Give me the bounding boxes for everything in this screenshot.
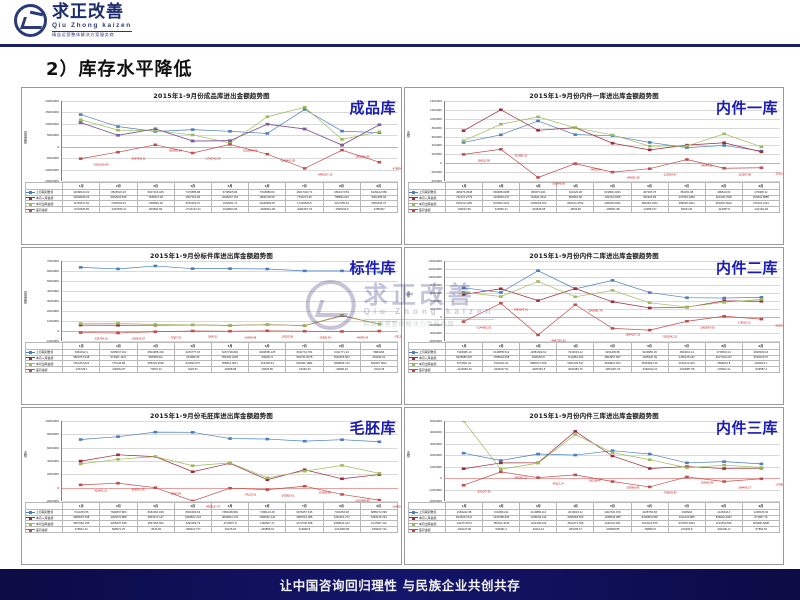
series-marker [760,463,764,466]
table-column-header: 5月 [211,183,248,190]
y-tick-label: 800000 [432,126,442,130]
y-tick-label: 4000000 [47,459,59,463]
series-marker [760,151,764,154]
series-marker [153,265,157,268]
plot-maopeiku: 418941.31669972.25-3540.69-4582127.57-79… [61,421,398,501]
y-axis-label-maopeiku: 金额 [23,451,28,457]
table-cell: -156749.1 [63,367,100,373]
series-marker [499,302,503,305]
data-label: 3426.51 [208,336,218,339]
y-tick-label: 3000000 [430,442,442,446]
data-label: -1013480.89 [355,499,370,502]
table-corner [409,503,446,510]
table-column-header: 2月 [100,343,137,350]
table-column-header: 5月 [594,343,631,350]
chart-big-label-neijian-erku: 内件二库 [716,257,778,278]
y-axis-label-biaojianku: 成品金额 [23,291,28,304]
legend-label: 本月入库金额 [419,356,436,360]
series-marker [462,129,466,132]
legend-label: 差异金额 [36,208,48,212]
table-column-header: 9月 [360,183,397,190]
table-column-header: 7月 [286,343,323,350]
table-column-header: 9月 [742,503,779,510]
y-tick-label: 4000000 [430,430,442,434]
chart-data-table-chengpinku: 1月2月3月4月5月6月7月8月9月上月期初数值14068140.0288155… [25,182,398,213]
table-cell: 199012.95 [446,207,483,213]
series-marker [462,140,466,143]
series-marker [648,141,652,144]
series-marker [116,134,120,137]
series-marker [79,438,83,441]
series-marker [648,467,652,470]
table-column-header: 7月 [668,343,705,350]
series-marker [648,458,652,461]
series-marker [79,113,83,116]
table-column-header: 8月 [705,183,742,190]
legend-swatch-icon [26,357,35,358]
table-cell: 418941.31 [63,527,100,533]
series-marker [228,130,232,133]
y-tick-label: 14000000 [428,259,442,263]
data-label: 49112.14 [553,482,564,485]
table-corner [26,183,63,190]
series-marker [685,320,689,323]
brand-name-cn: 求正改善 [52,4,132,21]
y-axis-biaojianku: 成品金额700000060000005000000400000030000002… [25,261,61,341]
series-line [81,457,380,478]
data-label: -57892.81 [775,484,784,487]
legend-swatch-icon [26,192,35,193]
table-cell: 313581.31 [483,207,520,213]
table-cell: 825992.83 [137,207,174,213]
legend-entry: 差异金额 [409,527,446,533]
y-tick-label: 6000000 [430,291,442,295]
table-row: 差异金额-620147.96546391.249112.14283108.47-… [409,527,780,533]
chart-grid: 成品库2015年1-9月份成品库进出金额趋势图成品金额2000000015000… [20,86,785,566]
series-marker [377,131,381,134]
series-marker [722,315,726,318]
data-label: -46999.24 [356,336,368,339]
series-marker [499,468,503,471]
y-tick-label: 4000000 [47,289,59,293]
legend-swatch-icon [26,523,35,524]
series-marker [722,141,726,144]
series-marker [340,438,344,441]
series-marker [611,142,615,145]
legend-swatch-icon [409,517,418,518]
table-cell: -4582127.57 [174,527,211,533]
y-tick-label: 1400000 [430,99,442,103]
data-label: -2397930.11 [131,157,146,160]
legend-entry: 差异金额 [26,367,63,373]
y-tick-label: 0 [440,315,442,319]
series-marker [536,334,540,337]
series-marker [536,176,540,179]
series-marker [685,306,689,309]
chart-plot-area-biaojianku: 成品金额700000060000005000000400000030000002… [25,261,398,341]
table-cell: -9490267.15 [286,207,323,213]
y-tick-label: 200000 [432,152,442,156]
chart-data-table-biaojianku: 1月2月3月4月5月6月7月8月9月上月期初数值6361912.46205007… [25,342,398,373]
series-marker [536,269,540,272]
table-cell: 3060482.76 [557,367,594,373]
data-label: -1144952.02 [476,326,491,329]
series-marker [228,462,232,465]
series-marker [760,318,764,321]
table-cell: -2742742.24 [174,207,211,213]
brand-logo-icon [14,4,47,37]
table-cell: -123554.67 [631,207,668,213]
series-line [464,281,762,306]
chart-big-label-neijian-yiku: 内件一库 [716,97,778,118]
data-label: -4487281.50 [551,340,566,343]
chart-title-biaojianku: 2015年1-9月份标件库进出库金额趋势图 [25,251,398,260]
legend-label: 上月期初数值 [419,350,436,354]
table-column-header: 3月 [520,503,557,510]
table-column-header: 1月 [63,183,100,190]
table-corner [26,343,63,350]
legend-label: 本月入库金额 [36,516,53,520]
legend-swatch-icon [26,209,35,210]
series-marker [153,330,157,333]
y-tick-label: -1000000 [46,339,59,343]
table-cell: 216999.8 [286,527,323,533]
series-marker [722,480,726,483]
y-axis-neijian-erku: 金额14000000120000001000000080000006000000… [408,261,444,341]
y-tick-label: 0 [440,476,442,480]
series-marker [536,299,540,302]
legend-swatch-icon [409,352,418,353]
series-marker [340,149,344,152]
table-cell: 20025.56 [249,367,286,373]
table-column-header: 5月 [211,343,248,350]
y-axis-label-neijian-sanku: 金额 [406,451,411,457]
table-cell: -2844257.23 [594,367,631,373]
series-marker [228,487,232,490]
data-label: 3433047.61 [514,308,528,311]
table-column-header: 6月 [249,343,286,350]
series-marker [377,440,381,443]
series-marker [228,330,232,333]
data-label: 199012.95 [477,159,490,162]
table-column-header: 4月 [174,183,211,190]
series-marker [377,499,381,501]
series-marker [153,486,157,489]
series-marker [116,151,120,154]
y-tick-label: 2000000 [47,472,59,476]
table-cell: -294406.17 [705,527,742,533]
chart-data-table-neijian-yiku: 1月2月3月4月5月6月7月8月9月上月期初数值468276.354863908… [408,182,780,213]
chart-panel-chengpinku: 成品库2015年1-9月份成品库进出金额趋势图成品金额2000000015000… [21,87,402,245]
legend-swatch-icon [409,357,418,358]
page-title: 2）库存水平降低 [46,55,193,81]
legend-label: 差异金额 [36,528,48,532]
series-marker [760,478,764,481]
series-marker [265,268,269,271]
legend-label: 差异金额 [36,368,48,372]
legend-entry: 差异金额 [26,207,63,213]
y-tick-label: 8000000 [47,432,59,436]
y-tick-label: 600000 [432,135,442,139]
series-marker [340,270,344,273]
data-label: -3282042.21 [662,335,677,338]
legend-label: 本月入库金额 [419,196,436,200]
legend-label: 上月期初数值 [36,350,53,354]
series-marker [648,291,652,294]
series-marker [611,327,615,330]
series-marker [191,267,195,270]
table-column-header: 1月 [446,503,483,510]
series-line [464,303,762,335]
legend-label: 本月入库金额 [36,196,53,200]
header-logo-bar: 求正改善 Qiu Zhong kaizen 精益运营整体解决方案服务商 [0,0,800,44]
table-column-header: 2月 [483,503,520,510]
series-marker [265,123,269,126]
table-cell: -1144952.02 [446,367,483,373]
data-label: -19360.34 [319,336,331,339]
table-cell: -1508160.9 [323,207,360,213]
series-marker [79,463,83,466]
y-axis-label-neijian-erku: 金额 [406,291,411,297]
table-cell: -3540.69 [137,527,174,533]
y-axis-neijian-sanku: 金额500000040000003000000200000010000000-1… [408,421,444,501]
y-tick-label: 2000000 [47,309,59,313]
series-marker [760,166,764,169]
series-marker [685,145,689,148]
series-marker [573,430,577,433]
y-axis-label-chengpinku: 成品金额 [23,131,28,144]
y-tick-label: 0 [57,145,59,149]
data-label: -79125.62 [244,493,256,496]
table-column-header: 3月 [520,343,557,350]
series-marker [536,120,540,123]
chart-plot-area-chengpinku: 成品金额20000000150000001000000050000000-500… [25,101,398,181]
data-label: 103400.80 [701,482,714,485]
series-marker [611,455,615,458]
series-marker [303,167,307,170]
y-tick-label: -6000000 [429,339,442,343]
series-marker [191,152,195,155]
series-marker [228,267,232,270]
table-cell: -4487281.5 [520,367,557,373]
chart-panel-neijian-yiku: 内件一库2015年1-9月份内件一库进出库金额趋势图金额140000012000… [404,87,784,245]
series-line [81,144,380,168]
y-tick-label: 7000000 [47,259,59,263]
series-marker [116,454,120,457]
series-marker [303,485,307,488]
series-marker [116,322,120,325]
y-axis-label-neijian-yiku: 金额 [406,131,411,137]
data-label: -1866107.92 [392,505,402,508]
y-tick-label: 20000000 [45,99,59,103]
series-line [81,432,380,442]
chart-big-label-biaojianku: 标件库 [349,257,396,278]
gridline [445,181,780,182]
chart-big-label-neijian-sanku: 内件三库 [716,417,778,438]
legend-label: 上月期初数值 [36,190,53,194]
y-tick-label: 1000000 [430,465,442,469]
table-column-header: 3月 [137,343,174,350]
series-marker [611,279,615,282]
legend-label: 本月出库金额 [36,522,53,526]
y-axis-chengpinku: 成品金额20000000150000001000000050000000-500… [25,101,61,181]
series-marker [265,477,269,480]
series-line [81,315,380,325]
gridline [62,341,398,342]
table-cell: 546391.2 [483,527,520,533]
series-marker [265,488,269,491]
chart-panel-maopeiku: 毛胚库2015年1-9月份毛胚库进出库金额趋势图金额10000000800000… [21,407,402,565]
series-marker [536,280,540,283]
series-marker [499,462,503,465]
series-marker [648,486,652,489]
table-cell: 669972.25 [100,527,137,533]
series-marker [340,130,344,133]
series-marker [116,268,120,271]
table-cell: -79125.62 [211,527,248,533]
table-cell: -2397930.11 [100,207,137,213]
table-corner [26,503,63,510]
table-column-header: 7月 [668,503,705,510]
table-row: 差异金额418941.31669972.25-3540.69-4582127.5… [26,527,398,533]
y-tick-label: -15000000 [44,179,59,183]
chart-panel-biaojianku: 标件库2015年1-9月份标件库进出库金额趋势图成品金额700000060000… [21,247,402,405]
series-marker [462,452,466,455]
series-marker [573,433,577,436]
series-marker [611,134,615,137]
series-marker [116,332,120,335]
series-marker [760,145,764,148]
table-column-header: 5月 [594,503,631,510]
series-marker [573,287,577,290]
series-marker [303,470,307,473]
data-label: 216999.80 [318,491,331,494]
series-marker [153,144,157,147]
data-label: -294406.17 [737,486,751,489]
series-marker [611,451,615,454]
series-line [81,483,380,501]
table-cell: 3426.51 [174,367,211,373]
data-label: 84044.31 [701,164,712,167]
series-marker [303,324,307,327]
series-marker [340,478,344,481]
y-tick-label: -2000000 [46,499,59,503]
series-marker [648,302,652,305]
series-marker [153,323,157,326]
series-marker [377,330,381,333]
legend-label: 差异金额 [419,368,431,372]
data-label: -199651.98 [626,177,640,180]
series-marker [79,484,83,487]
series-marker [536,462,540,465]
series-marker [573,126,577,129]
table-cell: -1866107.92 [360,527,397,533]
table-column-header: 4月 [174,343,211,350]
y-tick-label: -1000000 [429,488,442,492]
series-marker [573,162,577,165]
series-marker [191,134,195,137]
y-tick-label: 4000000 [430,299,442,303]
series-marker [499,295,503,298]
chart-panel-neijian-erku: 内件二库2015年1-9月份内件二库进出库金额趋势图金额140000001200… [404,247,784,405]
gridline [62,181,398,182]
table-column-header: 1月 [446,343,483,350]
series-marker [228,324,232,327]
table-cell: 49112.14 [520,527,557,533]
y-tick-label: 400000 [432,143,442,147]
legend-swatch-icon [26,203,35,204]
table-cell: -319645.65 [520,207,557,213]
series-marker [685,466,689,469]
table-row: 差异金额199012.95313581.31-319645.65-9833.69… [409,207,780,213]
data-label: -293908.85 [626,486,640,489]
legend-swatch-icon [409,523,418,524]
footer-text: 让中国咨询回归理性 与民族企业共创共存 [280,575,521,594]
table-cell: -292855.61 [249,527,286,533]
table-cell: 103400.8 [668,527,705,533]
y-tick-label: 8000000 [430,283,442,287]
series-marker [228,139,232,142]
series-marker [648,453,652,456]
data-label: -9490267.15 [317,173,332,176]
y-tick-label: 15000000 [45,110,59,114]
data-label: -2844257.23 [625,333,640,336]
y-tick-label: 1000000 [47,319,59,323]
series-marker [191,500,195,501]
legend-swatch-icon [409,363,418,364]
series-marker [499,108,503,111]
series-marker [79,118,83,121]
series-marker [499,148,503,151]
legend-swatch-icon [26,512,35,513]
table-cell: -5210925.89 [63,207,100,213]
series-marker [228,143,232,146]
table-cell: -620147.96 [446,527,483,533]
series-marker [611,171,615,174]
series-marker [377,472,381,475]
series-marker [462,421,466,422]
chart-data-table-neijian-sanku: 1月2月3月4月5月6月7月8月9月上月期初数值2184242.68154480… [408,502,780,533]
series-marker [611,289,615,292]
series-marker [722,133,726,136]
series-marker [79,121,83,124]
data-label: -6780067.00 [392,167,402,170]
series-marker [648,307,652,310]
series-marker [722,464,726,467]
brand-logo: 求正改善 Qiu Zhong kaizen 精益运营整体解决方案服务商 [14,4,132,37]
y-tick-label: 6000000 [47,269,59,273]
gridline [62,501,398,502]
series-marker [79,331,83,334]
series-marker [573,296,577,299]
series-marker [303,106,307,109]
chart-big-label-maopeiku: 毛胚库 [349,417,396,438]
table-column-header: 6月 [631,503,668,510]
table-column-header: 8月 [705,343,742,350]
y-tick-label: 1200000 [430,108,442,112]
series-marker [340,314,344,317]
table-column-header: 9月 [360,343,397,350]
series-marker [191,128,195,131]
y-tick-label: 10000000 [428,275,442,279]
series-marker [462,153,466,156]
series-marker [462,287,466,290]
series-marker [722,301,726,304]
brand-name-en: Qiu Zhong kaizen [52,23,132,32]
data-label: -768803.80 [663,492,677,495]
legend-entry: 差异金额 [26,527,63,533]
series-line [464,472,762,487]
